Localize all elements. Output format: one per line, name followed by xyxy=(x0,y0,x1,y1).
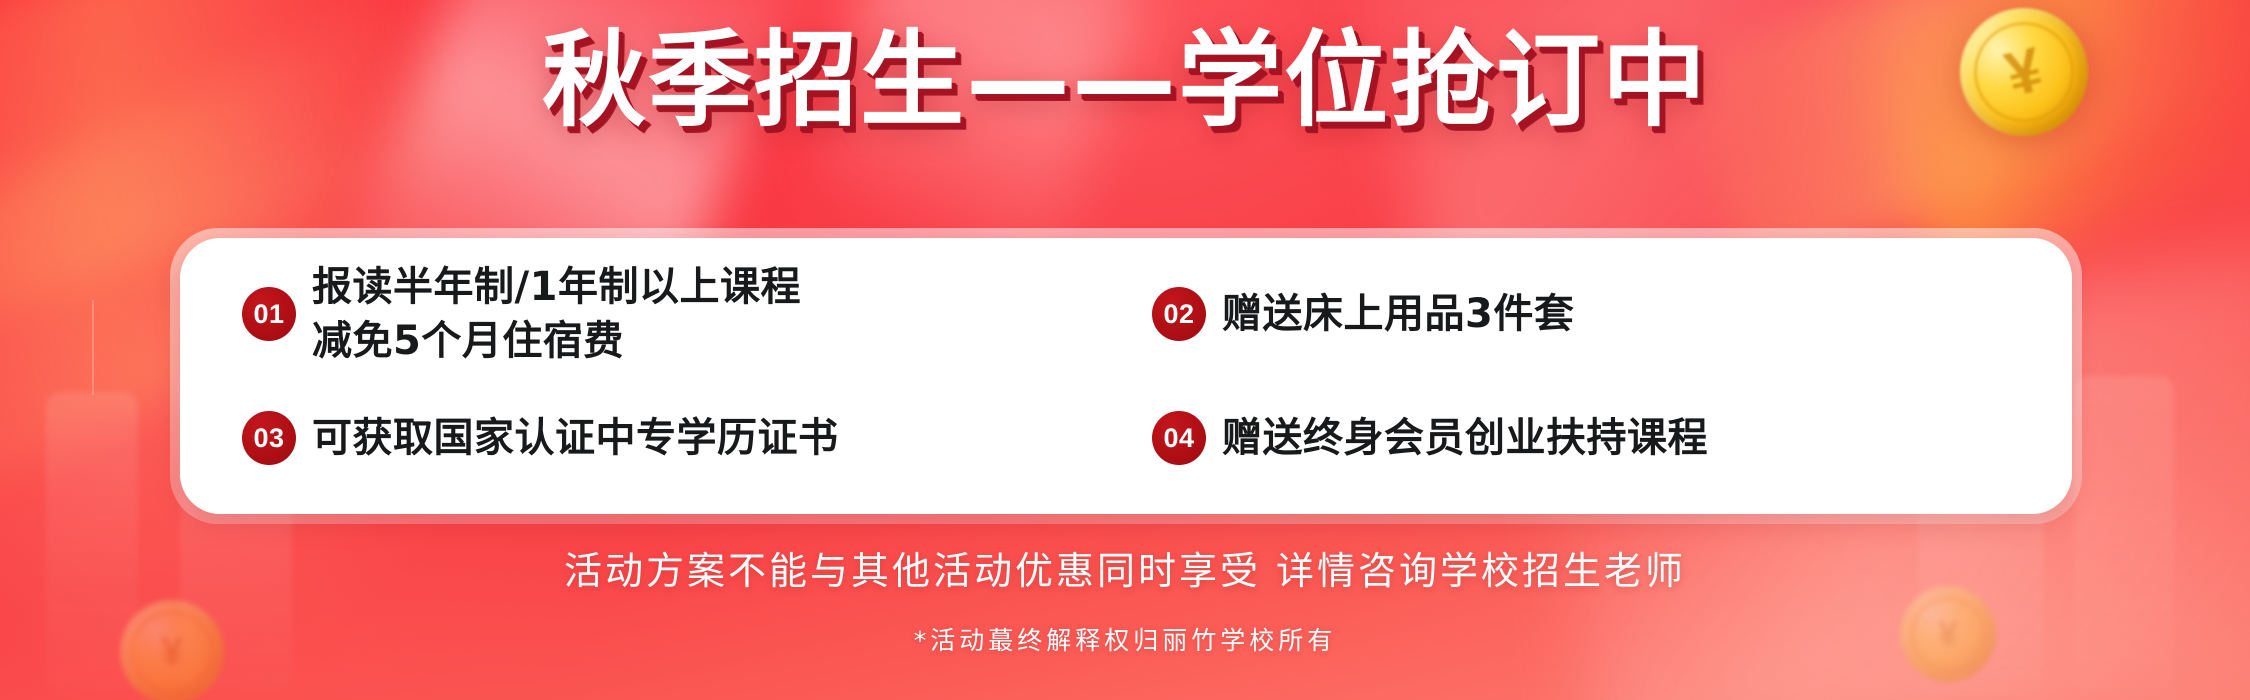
benefit-text: 赠送床上用品3件套 xyxy=(1222,288,1574,340)
promo-note: 活动方案不能与其他活动优惠同时享受 详情咨询学校招生老师 xyxy=(0,548,2250,594)
benefit-item-04: 04 赠送终身会员创业扶持课程 xyxy=(1126,411,2072,465)
benefit-item-01: 01 报读半年制/1年制以上课程 减免5个月住宿费 xyxy=(180,260,1126,368)
benefit-item-03: 03 可获取国家认证中专学历证书 xyxy=(180,411,1126,465)
benefit-number-badge: 01 xyxy=(242,287,296,341)
banner-headline: 秋季招生——学位抢订中 xyxy=(0,20,2250,140)
legal-disclaimer: *活动蕞终解释权归丽竹学校所有 xyxy=(0,624,2250,658)
promo-banner: ¥ ¥ ¥ 秋季招生——学位抢订中 01 报读半年制/1年制以上课程 减免5个月… xyxy=(0,0,2250,700)
benefit-item-02: 02 赠送床上用品3件套 xyxy=(1126,287,2072,341)
benefit-number-badge: 04 xyxy=(1152,411,1206,465)
benefit-number-badge: 03 xyxy=(242,411,296,465)
benefits-card-frame: 01 报读半年制/1年制以上课程 减免5个月住宿费 02 赠送床上用品3件套 0… xyxy=(170,228,2082,524)
benefit-text: 可获取国家认证中专学历证书 xyxy=(312,412,839,464)
plaque-string-decoration xyxy=(92,300,94,395)
benefit-number-badge: 02 xyxy=(1152,287,1206,341)
benefits-card: 01 报读半年制/1年制以上课程 减免5个月住宿费 02 赠送床上用品3件套 0… xyxy=(180,238,2072,514)
benefit-text: 报读半年制/1年制以上课程 减免5个月住宿费 xyxy=(312,260,801,368)
benefit-text: 赠送终身会员创业扶持课程 xyxy=(1222,412,1708,464)
